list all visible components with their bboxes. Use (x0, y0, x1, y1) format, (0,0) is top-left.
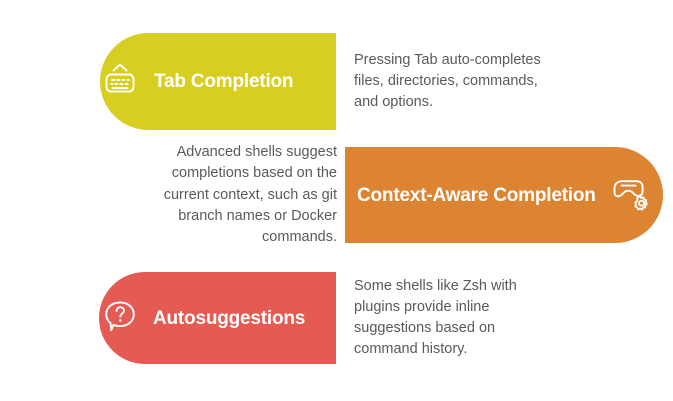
feature-description-tab-completion: Pressing Tab auto-completes files, direc… (354, 50, 564, 113)
feature-label-autosuggestions: Autosuggestions (153, 309, 305, 328)
infographic-canvas: Tab Completion Pressing Tab auto-complet… (0, 0, 673, 401)
vr-headset-gear-icon (607, 172, 649, 219)
question-speech-bubble-icon (99, 295, 141, 342)
feature-bar-context-aware-completion[interactable]: Context-Aware Completion (345, 147, 663, 243)
feature-row-tab-completion: Tab Completion Pressing Tab auto-complet… (0, 33, 673, 130)
feature-label-tab-completion: Tab Completion (154, 72, 293, 91)
feature-bar-tab-completion[interactable]: Tab Completion (100, 33, 336, 130)
feature-description-context-aware-completion: Advanced shells suggest completions base… (137, 142, 337, 247)
feature-row-autosuggestions: Autosuggestions Some shells like Zsh wit… (0, 272, 673, 364)
keyboard-tab-icon (100, 59, 140, 104)
feature-description-autosuggestions: Some shells like Zsh with plugins provid… (354, 276, 554, 360)
feature-bar-autosuggestions[interactable]: Autosuggestions (99, 272, 336, 364)
feature-row-context-aware-completion: Advanced shells suggest completions base… (0, 147, 673, 243)
feature-label-context-aware-completion: Context-Aware Completion (357, 186, 596, 205)
